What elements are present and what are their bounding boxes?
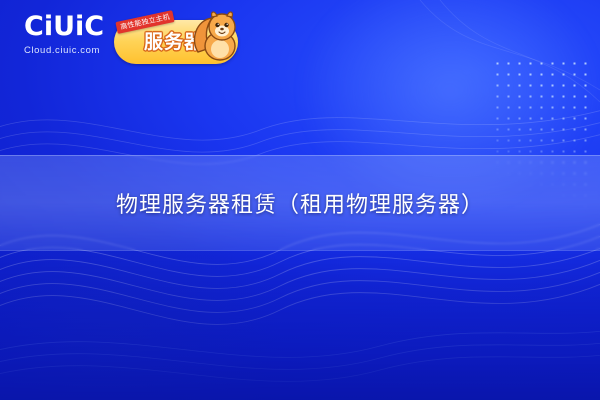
headline-text: 物理服务器租赁（租用物理服务器） <box>0 187 600 219</box>
squirrel-mascot-icon <box>192 8 244 64</box>
brand-logo: CiUiC Cloud.ciuic.com 服务器 高性能独立主机 <box>24 12 234 64</box>
background-bottom-shade <box>0 250 600 400</box>
brand-name-text: CiUiC <box>24 11 104 42</box>
service-badge: 服务器 高性能独立主机 <box>114 20 238 64</box>
headline-band-top-edge <box>0 155 600 156</box>
promo-banner: 物理服务器租赁（租用物理服务器） CiUiC Cloud.ciuic.com 服… <box>0 0 600 400</box>
